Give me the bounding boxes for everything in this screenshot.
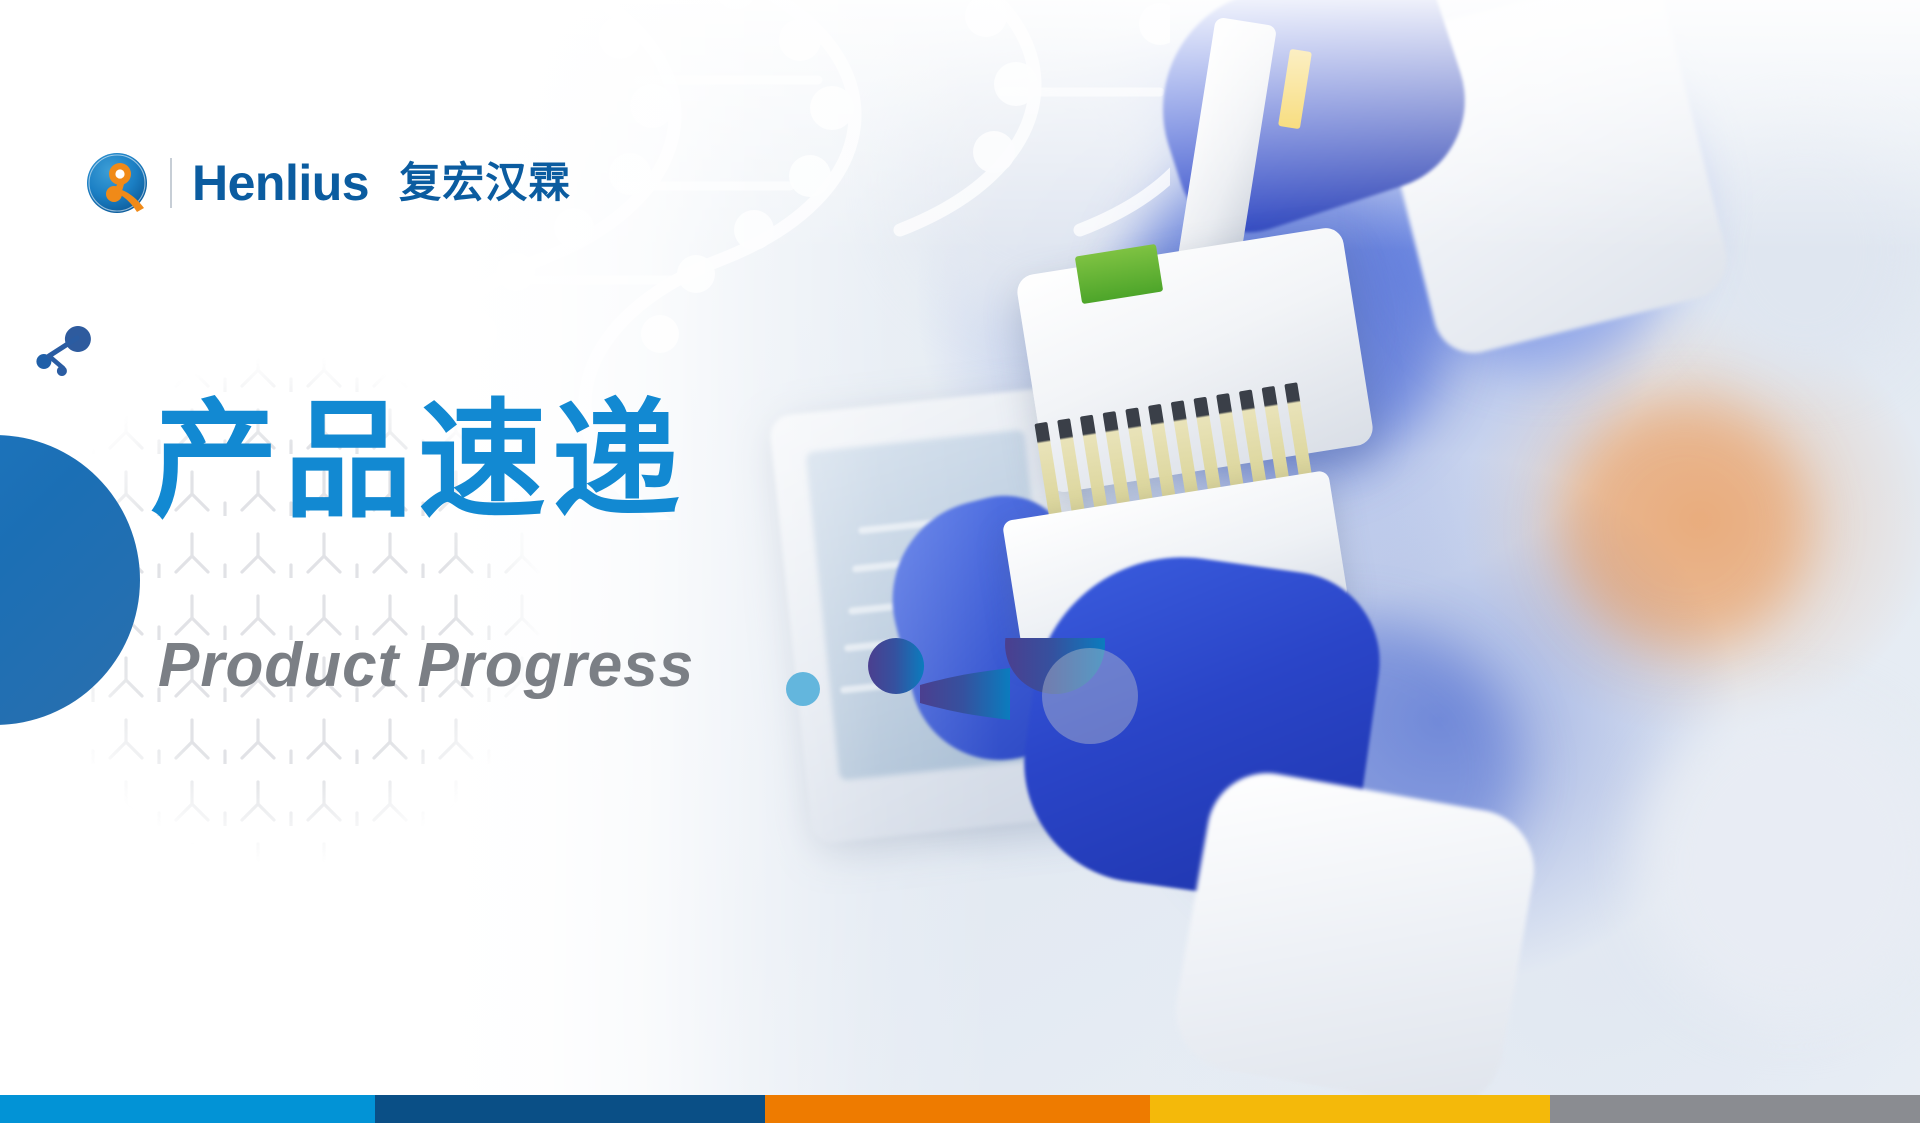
cover-slide: 产品速递 Product Progress [0,0,1920,1123]
bar-segment-gray [1550,1095,1920,1123]
page-title-chinese: 产品速递 [150,395,686,529]
logo-wordmark-en: Henlius [192,158,369,208]
page-subtitle-english: Product Progress [158,630,694,701]
bar-segment-yellow [1150,1095,1550,1123]
decorative-ghost-circle [1042,648,1138,744]
logo-wordmark-cn: 复宏汉霖 [399,162,571,204]
decorative-dot-light-blue [786,672,820,706]
bar-segment-orange [765,1095,1150,1123]
molecule-icon-small [32,310,102,380]
bar-segment-dark-blue [375,1095,765,1123]
logo-divider [170,158,172,208]
henlius-logo-mark-icon [86,152,148,214]
brand-logo[interactable]: Henlius 复宏汉霖 [86,148,571,218]
bottom-color-bar [0,1095,1920,1123]
bar-segment-light-blue [0,1095,375,1123]
